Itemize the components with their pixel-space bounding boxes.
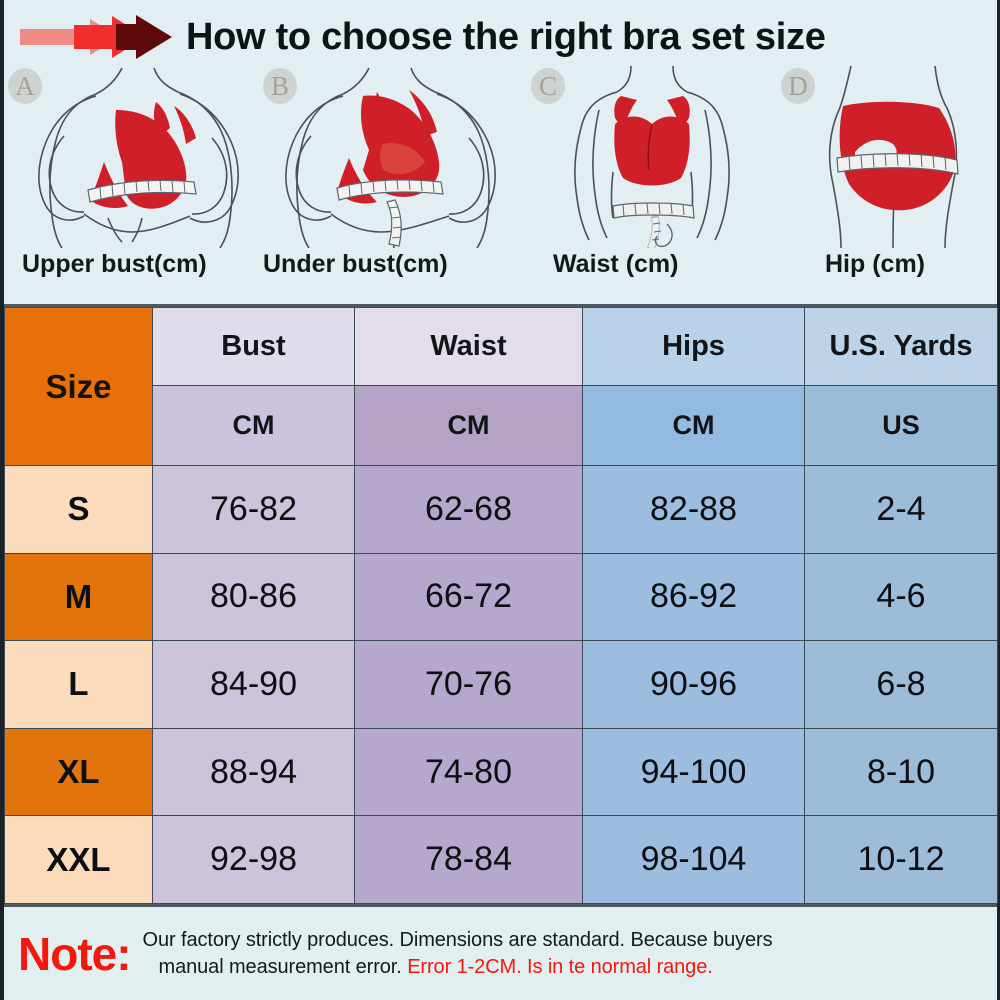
cell-size: M xyxy=(5,553,153,641)
cell-hips: 98-104 xyxy=(583,816,805,904)
note-strip: Note: Our factory strictly produces. Dim… xyxy=(4,904,997,1000)
illustration-panel: How to choose the right bra set size A xyxy=(4,0,997,307)
cell-waist: 62-68 xyxy=(355,466,583,554)
cell-us: 4-6 xyxy=(805,553,998,641)
cell-us: 10-12 xyxy=(805,816,998,904)
woman-measuring-upper-bust-icon xyxy=(4,66,259,248)
column-header-bust: Bust xyxy=(153,308,355,386)
column-unit-waist: CM xyxy=(355,386,583,466)
column-unit-hips: CM xyxy=(583,386,805,466)
cell-bust: 88-94 xyxy=(153,728,355,816)
figure-a: A xyxy=(4,66,259,248)
cell-bust: 80-86 xyxy=(153,553,355,641)
column-unit-us: US xyxy=(805,386,998,466)
note-label: Note: xyxy=(18,927,131,981)
cell-size: XXL xyxy=(5,816,153,904)
table-row: M 80-86 66-72 86-92 4-6 xyxy=(5,553,998,641)
cell-size: S xyxy=(5,466,153,554)
table-row: L 84-90 70-76 90-96 6-8 xyxy=(5,641,998,729)
cell-waist: 78-84 xyxy=(355,816,583,904)
cell-bust: 76-82 xyxy=(153,466,355,554)
figure-label-c: Waist (cm) xyxy=(553,250,777,279)
table-row: S 76-82 62-68 82-88 2-4 xyxy=(5,466,998,554)
figure-c: C xyxy=(527,66,777,248)
cell-size: L xyxy=(5,641,153,729)
headline-row: How to choose the right bra set size xyxy=(4,6,997,68)
cell-bust: 84-90 xyxy=(153,641,355,729)
cell-size: XL xyxy=(5,728,153,816)
triple-arrow-right-icon xyxy=(12,12,182,62)
column-unit-bust: CM xyxy=(153,386,355,466)
cell-us: 6-8 xyxy=(805,641,998,729)
cell-waist: 70-76 xyxy=(355,641,583,729)
cell-bust: 92-98 xyxy=(153,816,355,904)
note-body: Our factory strictly produces. Dimension… xyxy=(141,927,997,981)
column-header-hips: Hips xyxy=(583,308,805,386)
figure-label-b: Under bust(cm) xyxy=(263,250,527,279)
note-line-2: manual measurement error. Error 1-2CM. I… xyxy=(141,954,985,981)
figures-row: A xyxy=(4,66,997,248)
woman-measuring-under-bust-icon xyxy=(259,66,527,248)
figure-labels-row: Upper bust(cm) Under bust(cm) Waist (cm)… xyxy=(4,250,997,302)
woman-measuring-waist-icon xyxy=(527,66,777,248)
figure-label-a: Upper bust(cm) xyxy=(22,250,259,279)
page-title: How to choose the right bra set size xyxy=(186,16,826,59)
table-row: XL 88-94 74-80 94-100 8-10 xyxy=(5,728,998,816)
cell-hips: 86-92 xyxy=(583,553,805,641)
cell-hips: 82-88 xyxy=(583,466,805,554)
size-chart-table: Size Bust Waist Hips U.S. Yards CM CM CM… xyxy=(4,307,998,904)
cell-hips: 94-100 xyxy=(583,728,805,816)
column-header-waist: Waist xyxy=(355,308,583,386)
cell-us: 2-4 xyxy=(805,466,998,554)
cell-waist: 74-80 xyxy=(355,728,583,816)
cell-us: 8-10 xyxy=(805,728,998,816)
note-line-2-black: manual measurement error. xyxy=(159,956,402,978)
figure-d: D xyxy=(777,66,997,248)
note-line-1: Our factory strictly produces. Dimension… xyxy=(141,927,985,954)
size-chart-page: How to choose the right bra set size A xyxy=(0,0,1000,1000)
figure-label-d: Hip (cm) xyxy=(825,250,997,279)
woman-measuring-hip-icon xyxy=(777,66,997,248)
column-header-us-yards: U.S. Yards xyxy=(805,308,998,386)
note-line-2-red: Error 1-2CM. Is in te normal range. xyxy=(407,956,713,978)
cell-hips: 90-96 xyxy=(583,641,805,729)
table-header-row-names: Size Bust Waist Hips U.S. Yards xyxy=(5,308,998,386)
table-header-row-units: CM CM CM US xyxy=(5,386,998,466)
cell-waist: 66-72 xyxy=(355,553,583,641)
figure-b: B xyxy=(259,66,527,248)
table-row: XXL 92-98 78-84 98-104 10-12 xyxy=(5,816,998,904)
column-header-size: Size xyxy=(5,308,153,466)
